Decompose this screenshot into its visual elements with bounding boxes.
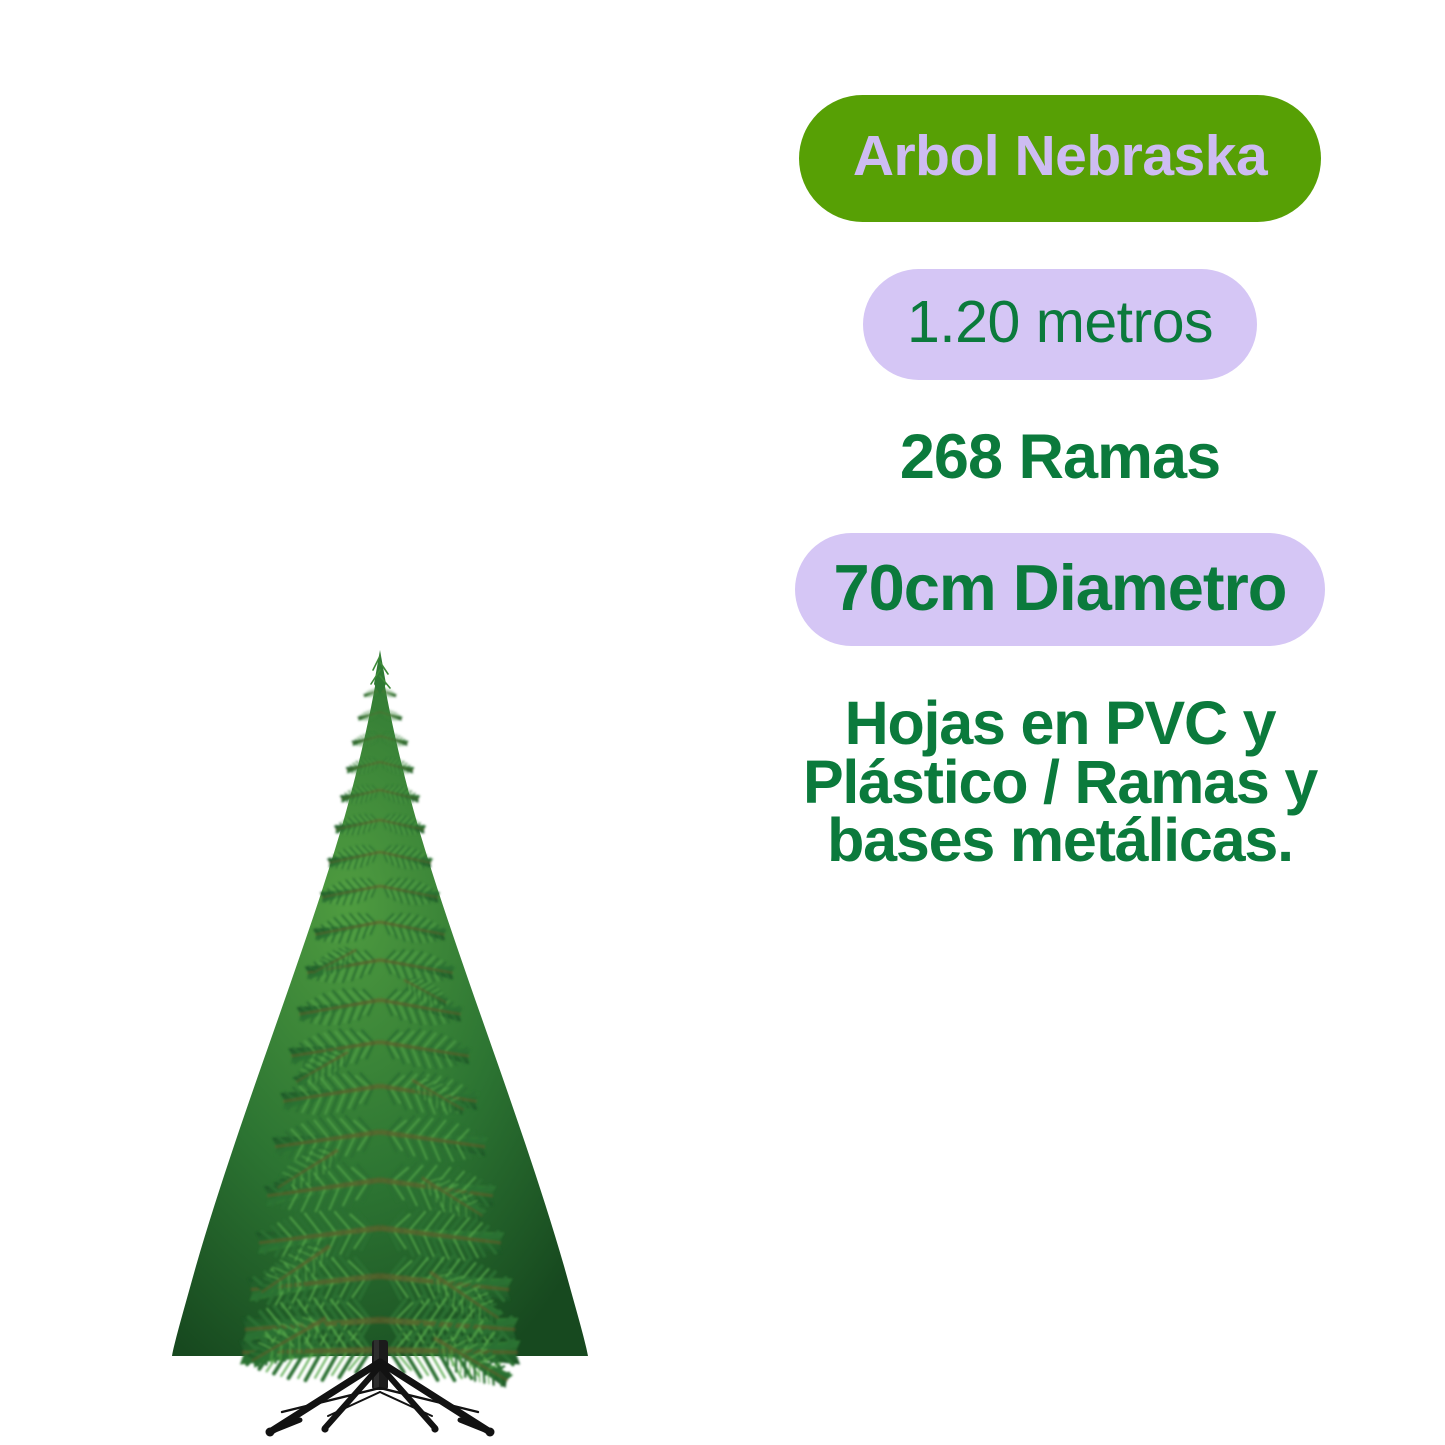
product-diameter-badge: 70cm Diametro: [795, 533, 1324, 646]
tree-top-tip: [371, 650, 390, 694]
product-material-description: Hojas en PVC y Plástico / Ramas y bases …: [803, 694, 1317, 870]
tree-foliage-mass: [172, 656, 588, 1356]
product-image-christmas-tree: [150, 650, 610, 1445]
product-banner: Arbol Nebraska 1.20 metros 268 Ramas 70c…: [0, 0, 1445, 1445]
product-title-badge: Arbol Nebraska: [799, 95, 1321, 222]
christmas-tree-illustration: [150, 650, 610, 1445]
product-height-badge: 1.20 metros: [863, 269, 1257, 380]
material-line-3: bases metálicas.: [803, 811, 1317, 870]
product-branch-count: 268 Ramas: [900, 426, 1220, 489]
material-line-2: Plástico / Ramas y: [803, 753, 1317, 812]
material-line-1: Hojas en PVC y: [803, 694, 1317, 753]
product-info-column: Arbol Nebraska 1.20 metros 268 Ramas 70c…: [730, 95, 1390, 870]
